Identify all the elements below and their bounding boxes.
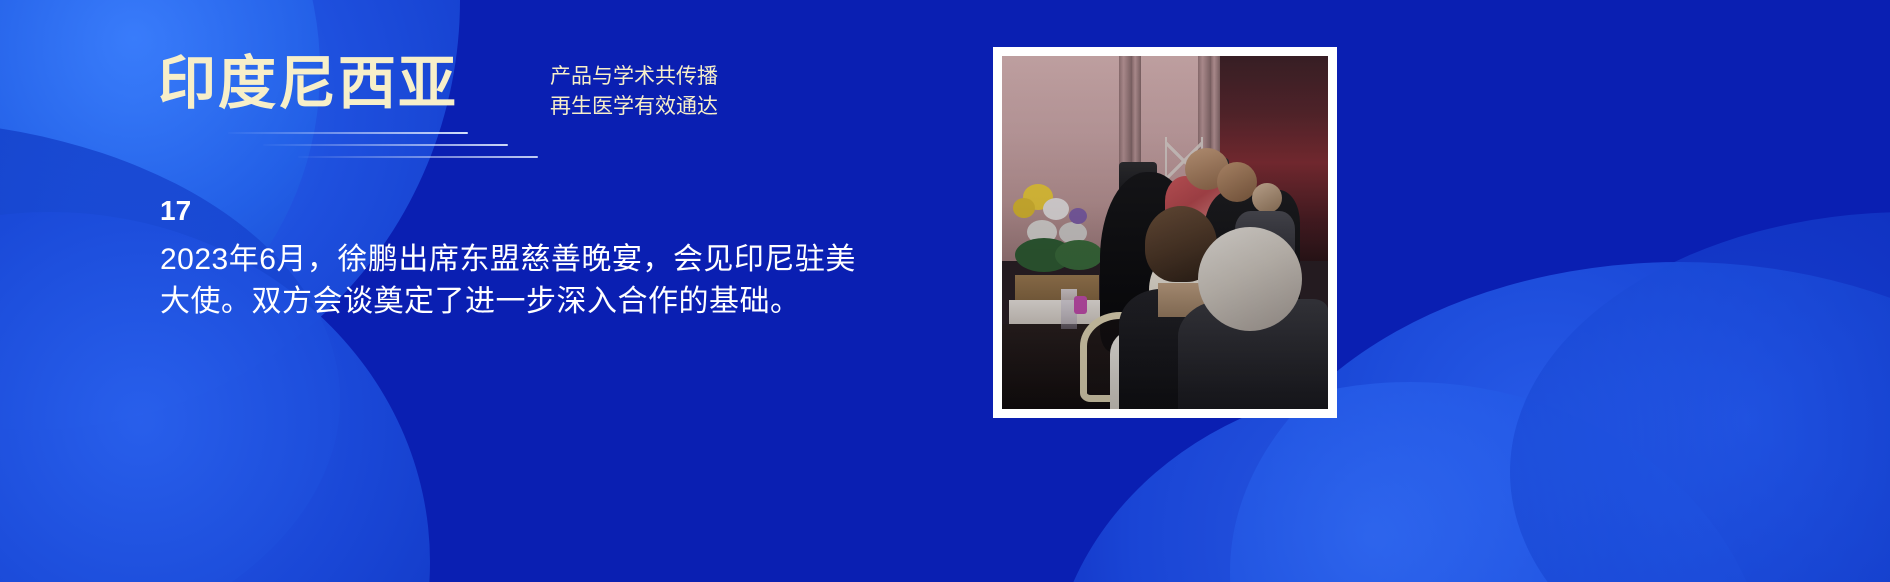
photo-vignette	[1002, 56, 1328, 409]
content-block: 17 2023年6月，徐鹏出席东盟慈善晚宴，会见印尼驻美大使。双方会谈奠定了进一…	[160, 196, 880, 324]
item-description: 2023年6月，徐鹏出席东盟慈善晚宴，会见印尼驻美大使。双方会谈奠定了进一步深入…	[160, 239, 880, 324]
banquet-photo	[1002, 56, 1328, 409]
title-rule-1	[228, 132, 468, 134]
decorative-blob-far-right	[1510, 212, 1890, 582]
subtitle-line-2: 再生医学有效通达	[550, 92, 718, 122]
page-title: 印度尼西亚	[158, 54, 458, 115]
decorative-blob-left-middle	[0, 120, 340, 582]
subtitle-block: 产品与学术共传播 再生医学有效通达	[550, 62, 718, 122]
title-block: 印度尼西亚	[158, 54, 458, 115]
subtitle-line-1: 产品与学术共传播	[550, 62, 718, 92]
slide-header: 印度尼西亚 产品与学术共传播 再生医学有效通达	[158, 54, 718, 122]
item-number: 17	[160, 196, 880, 227]
photo-frame	[993, 47, 1337, 418]
slide-canvas: 印度尼西亚 产品与学术共传播 再生医学有效通达 17 2023年6月，徐鹏出席东…	[0, 0, 1890, 582]
title-underline-decoration	[168, 132, 468, 166]
title-rule-3	[298, 156, 538, 158]
title-rule-2	[263, 144, 508, 146]
